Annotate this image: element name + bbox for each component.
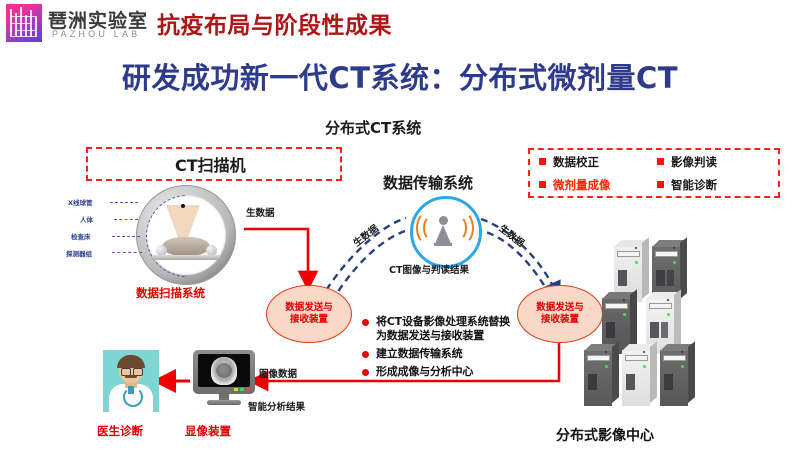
stethoscope-icon <box>123 387 143 407</box>
device-ellipse-left-line1: 数据发送与 <box>285 302 333 314</box>
device-ellipse-left-line2: 接收装置 <box>290 314 328 326</box>
raw-data-dashed-curve-right <box>481 219 556 292</box>
key-points-list: 将CT设备影像处理系统替换为数据发送与接收装置 建立数据传输系统 形成成像与分析… <box>362 315 512 383</box>
square-bullet-icon <box>657 158 664 165</box>
device-ellipse-right-line2: 接收装置 <box>541 314 579 326</box>
feature-item: 微剂量成像 <box>530 177 648 193</box>
display-device-caption: 显像装置 <box>185 423 231 439</box>
flow-label-raw-data-right: 生数据 <box>497 221 528 250</box>
ct-brain-scan-image <box>211 357 237 385</box>
signal-wave-icon <box>416 211 440 245</box>
device-ellipse-left: 数据发送与 接收装置 <box>266 285 352 343</box>
list-item: 形成成像与分析中心 <box>362 365 512 379</box>
header-title: 抗疫布局与阶段性成果 <box>157 6 392 40</box>
xray-source-point-icon <box>181 204 185 208</box>
pazhou-lab-logo-icon <box>6 4 42 42</box>
list-item: 建立数据传输系统 <box>362 347 512 361</box>
leader-line <box>112 236 140 237</box>
display-device-illustration <box>193 350 255 406</box>
antenna-base-shape <box>434 243 452 246</box>
leader-line <box>112 252 142 253</box>
square-bullet-icon <box>539 158 546 165</box>
flow-label-ai-result: 智能分析结果 <box>248 399 305 413</box>
slide-header: 琶洲实验室 PAZHOU LAB 抗疫布局与阶段性成果 <box>0 0 800 46</box>
scanner-part-label: X线球管 <box>68 197 93 207</box>
feature-label: 微剂量成像 <box>553 177 611 193</box>
signal-wave-icon <box>450 211 474 245</box>
monitor-bezel-shape <box>193 350 255 394</box>
monitor-indicator-leds <box>234 388 250 391</box>
data-scanning-system-caption: 数据扫描系统 <box>136 285 205 301</box>
feature-label: 数据校正 <box>553 154 599 170</box>
distributed-ct-system-caption: 分布式CT系统 <box>325 117 421 138</box>
round-bullet-icon <box>362 369 369 376</box>
leader-line <box>114 219 138 220</box>
server-stack-illustration <box>598 240 728 400</box>
flow-label-raw-data-left: 生数据 <box>350 221 381 250</box>
list-item: 将CT设备影像处理系统替换为数据发送与接收装置 <box>362 315 512 343</box>
monitor-base-shape <box>207 400 241 405</box>
device-ellipse-right-line1: 数据发送与 <box>536 302 584 314</box>
doctor-hair-shape <box>117 355 145 368</box>
device-ellipse-right: 数据发送与 接收装置 <box>517 285 603 343</box>
square-bullet-icon <box>539 181 546 188</box>
doctor-moustache-shape <box>125 375 137 378</box>
data-transmission-system-caption: 数据传输系统 <box>383 172 473 193</box>
round-bullet-icon <box>362 351 369 358</box>
patient-body-shape <box>162 237 210 256</box>
feature-label: 智能诊断 <box>671 177 717 193</box>
flow-label-raw-data-top: 生数据 <box>246 205 275 219</box>
flow-label-image-data: 图像数据 <box>259 366 297 380</box>
scanner-part-label: 探测器组 <box>66 248 92 258</box>
scanner-part-label: 人体 <box>80 214 93 224</box>
slide-canvas: 琶洲实验室 PAZHOU LAB 抗疫布局与阶段性成果 研发成功新一代CT系统：… <box>0 0 800 450</box>
ct-gantry-illustration <box>130 183 242 293</box>
imaging-center-caption: 分布式影像中心 <box>556 425 654 445</box>
flow-label-ct-result: CT图像与判读结果 <box>389 262 469 276</box>
list-item-label: 将CT设备影像处理系统替换为数据发送与接收装置 <box>376 315 512 343</box>
logo-text-en: PAZHOU LAB <box>52 29 140 39</box>
ct-machine-label: CT扫描机 <box>175 152 246 176</box>
monitor-screen <box>198 354 250 387</box>
round-bullet-icon <box>362 319 369 326</box>
server-tower <box>584 344 620 406</box>
scanner-part-label: 检查床 <box>71 231 91 241</box>
feature-item: 影像判读 <box>648 154 776 170</box>
server-tower <box>622 344 658 406</box>
feature-item: 数据校正 <box>530 154 648 170</box>
server-tower <box>660 344 696 406</box>
features-list: 数据校正 影像判读 微剂量成像 智能诊断 <box>530 150 776 196</box>
leader-line <box>110 202 138 203</box>
doctor-avatar <box>103 350 159 412</box>
feature-item: 智能诊断 <box>648 177 776 193</box>
patient-bed-shape <box>152 255 220 260</box>
raw-data-red-arrow <box>244 229 308 281</box>
list-item-label: 形成成像与分析中心 <box>376 365 473 379</box>
page-title: 研发成功新一代CT系统：分布式微剂量CT <box>0 55 800 97</box>
square-bullet-icon <box>657 181 664 188</box>
doctor-caption: 医生诊断 <box>97 423 143 439</box>
feature-label: 影像判读 <box>671 154 717 170</box>
list-item-label: 建立数据传输系统 <box>376 347 462 361</box>
